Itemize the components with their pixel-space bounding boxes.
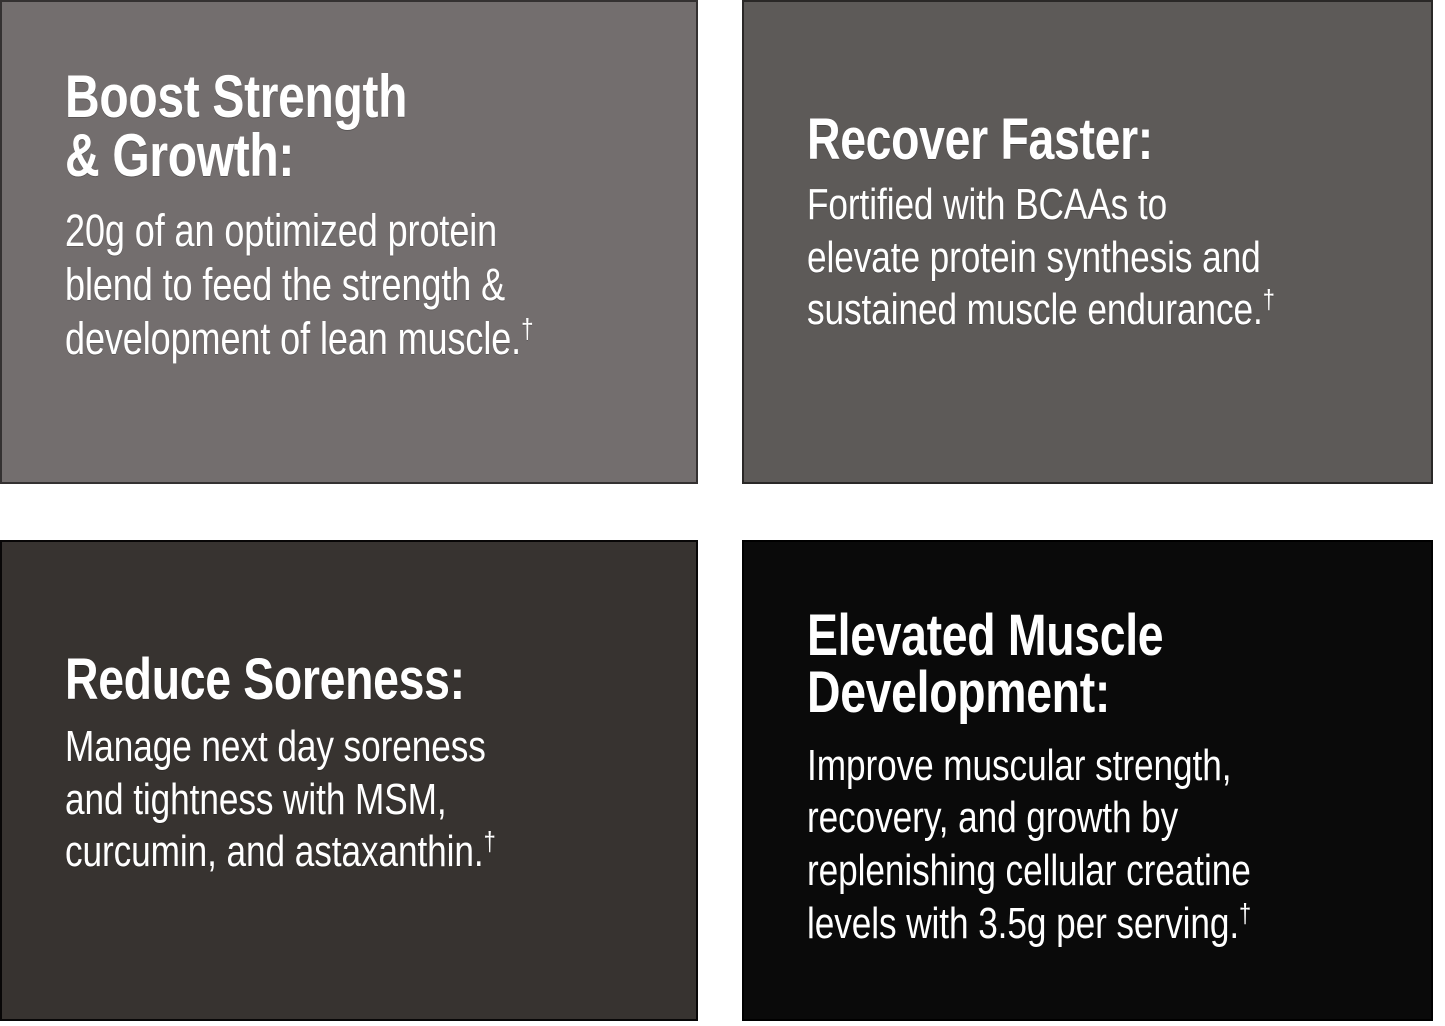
panel-body: 20g of an optimized protein blend to fee…: [65, 204, 538, 366]
panel-heading: Recover Faster:: [807, 112, 1282, 169]
benefit-panel-boost-strength-growth: Boost Strength & Growth: 20g of an optim…: [0, 0, 698, 484]
benefit-panel-elevated-muscle-development: Elevated Muscle Development: Improve mus…: [742, 540, 1433, 1021]
footnote-dagger-icon: †: [484, 826, 496, 857]
panel-content: Boost Strength & Growth: 20g of an optim…: [2, 68, 696, 366]
panel-body-text: Improve muscular strength, recovery, and…: [807, 741, 1251, 948]
benefit-panel-reduce-soreness: Reduce Soreness: Manage next day sorenes…: [0, 540, 698, 1021]
panel-content: Elevated Muscle Development: Improve mus…: [744, 608, 1431, 951]
panel-content: Reduce Soreness: Manage next day sorenes…: [2, 652, 696, 879]
panel-content: Recover Faster: Fortified with BCAAs to …: [744, 112, 1431, 337]
panel-heading: Boost Strength & Growth:: [65, 68, 538, 186]
panel-body: Improve muscular strength, recovery, and…: [807, 740, 1282, 951]
panel-body: Manage next day soreness and tightness w…: [65, 721, 538, 879]
panel-body: Fortified with BCAAs to elevate protein …: [807, 179, 1282, 337]
footnote-dagger-icon: †: [521, 313, 533, 344]
panel-body-text: Fortified with BCAAs to elevate protein …: [807, 180, 1263, 335]
benefit-grid: Boost Strength & Growth: 20g of an optim…: [0, 0, 1445, 1026]
panel-heading: Elevated Muscle Development:: [807, 608, 1282, 722]
panel-body-text: 20g of an optimized protein blend to fee…: [65, 205, 521, 364]
footnote-dagger-icon: †: [1239, 897, 1251, 928]
footnote-dagger-icon: †: [1263, 284, 1275, 315]
panel-body-text: Manage next day soreness and tightness w…: [65, 722, 486, 877]
benefit-panel-recover-faster: Recover Faster: Fortified with BCAAs to …: [742, 0, 1433, 484]
panel-heading: Reduce Soreness:: [65, 652, 538, 709]
